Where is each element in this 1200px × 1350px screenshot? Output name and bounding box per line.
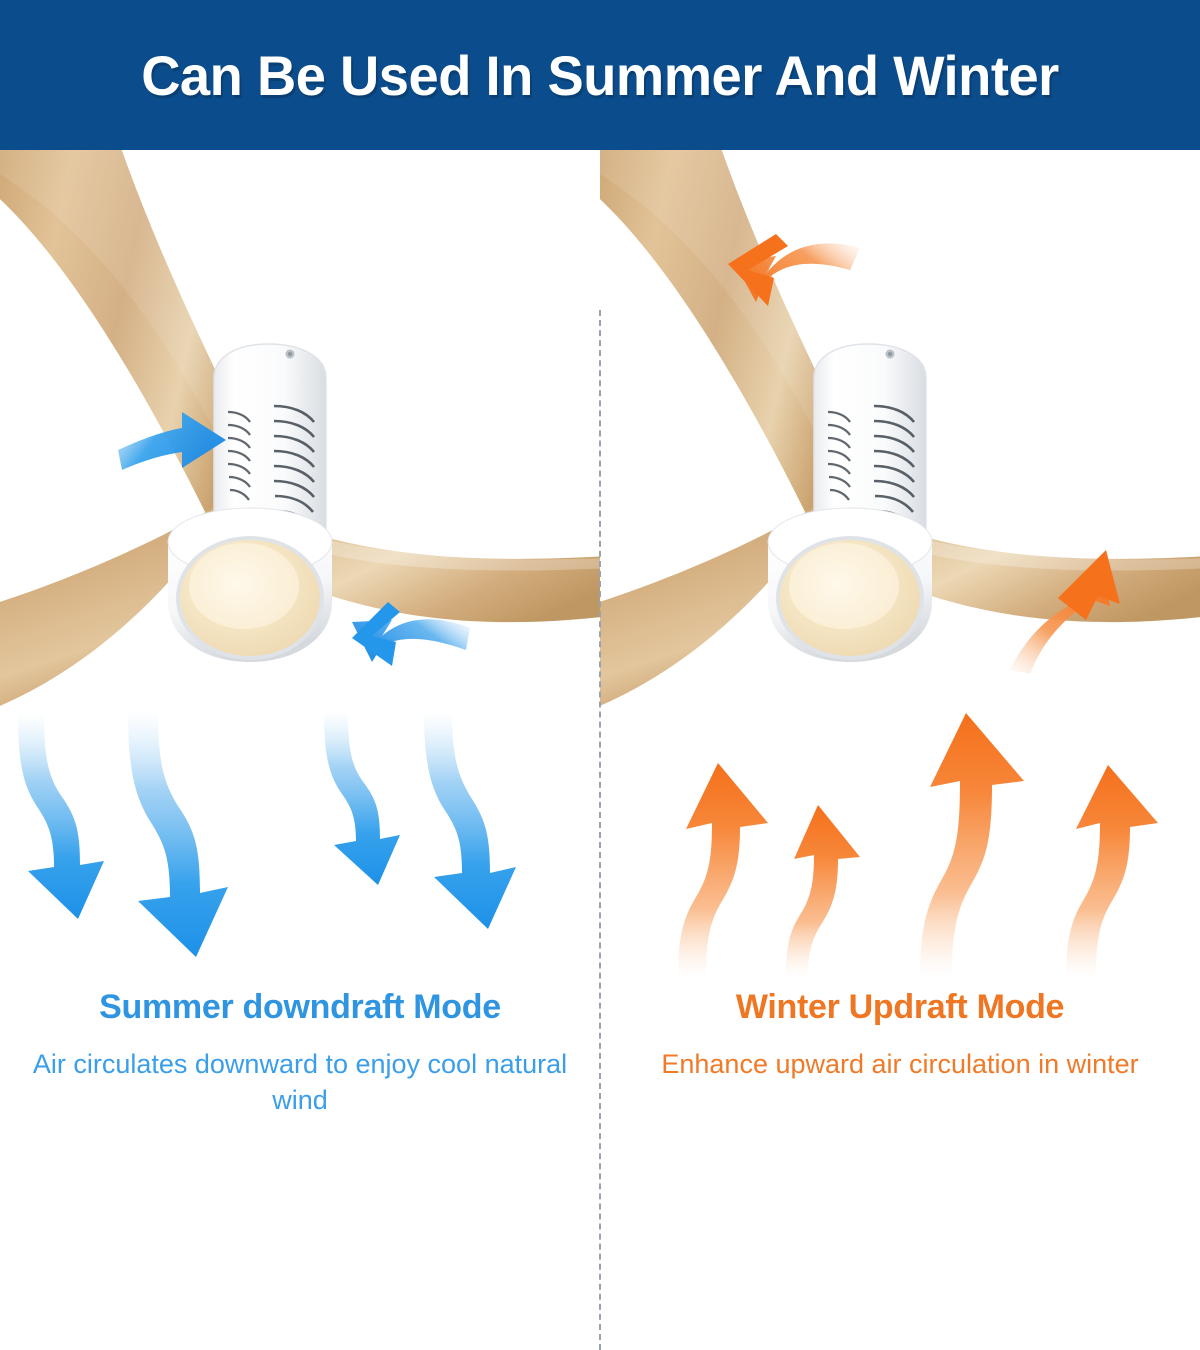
airflow-arrow: [128, 711, 228, 957]
airflow-arrow: [1066, 765, 1158, 977]
panel-summer: Summer downdraft Mode Air circulates dow…: [0, 150, 600, 1200]
airflow-arrows-up: [600, 705, 1200, 985]
airflow-arrow: [324, 711, 400, 885]
header-banner: Can Be Used In Summer And Winter: [0, 0, 1200, 150]
airflow-arrow-group: [18, 711, 516, 957]
caption-subtitle: Air circulates downward to enjoy cool na…: [22, 1047, 578, 1119]
page-title: Can Be Used In Summer And Winter: [141, 43, 1059, 108]
panel-winter: Winter Updraft Mode Enhance upward air c…: [600, 150, 1200, 1200]
airflow-arrow: [424, 711, 516, 929]
caption-subtitle: Enhance upward air circulation in winter: [622, 1047, 1178, 1083]
airflow-arrow: [678, 763, 768, 977]
airflow-arrows-down: [0, 705, 600, 985]
ceiling-fan-image-winter: [600, 150, 1200, 710]
caption-summer: Summer downdraft Mode Air circulates dow…: [0, 988, 600, 1119]
led-light-fixture: [168, 508, 332, 662]
airflow-arrow: [18, 713, 104, 919]
caption-title: Winter Updraft Mode: [622, 988, 1178, 1027]
airflow-arrow: [786, 805, 860, 977]
caption-winter: Winter Updraft Mode Enhance upward air c…: [600, 988, 1200, 1083]
comparison-panels: Summer downdraft Mode Air circulates dow…: [0, 150, 1200, 1200]
infographic-page: Can Be Used In Summer And Winter: [0, 0, 1200, 1200]
airflow-arrow: [920, 713, 1024, 977]
led-light-fixture: [768, 508, 932, 662]
caption-title: Summer downdraft Mode: [22, 988, 578, 1027]
airflow-arrow-group: [678, 713, 1158, 977]
ceiling-fan-image-summer: [0, 150, 600, 710]
panel-divider: [599, 310, 601, 1350]
